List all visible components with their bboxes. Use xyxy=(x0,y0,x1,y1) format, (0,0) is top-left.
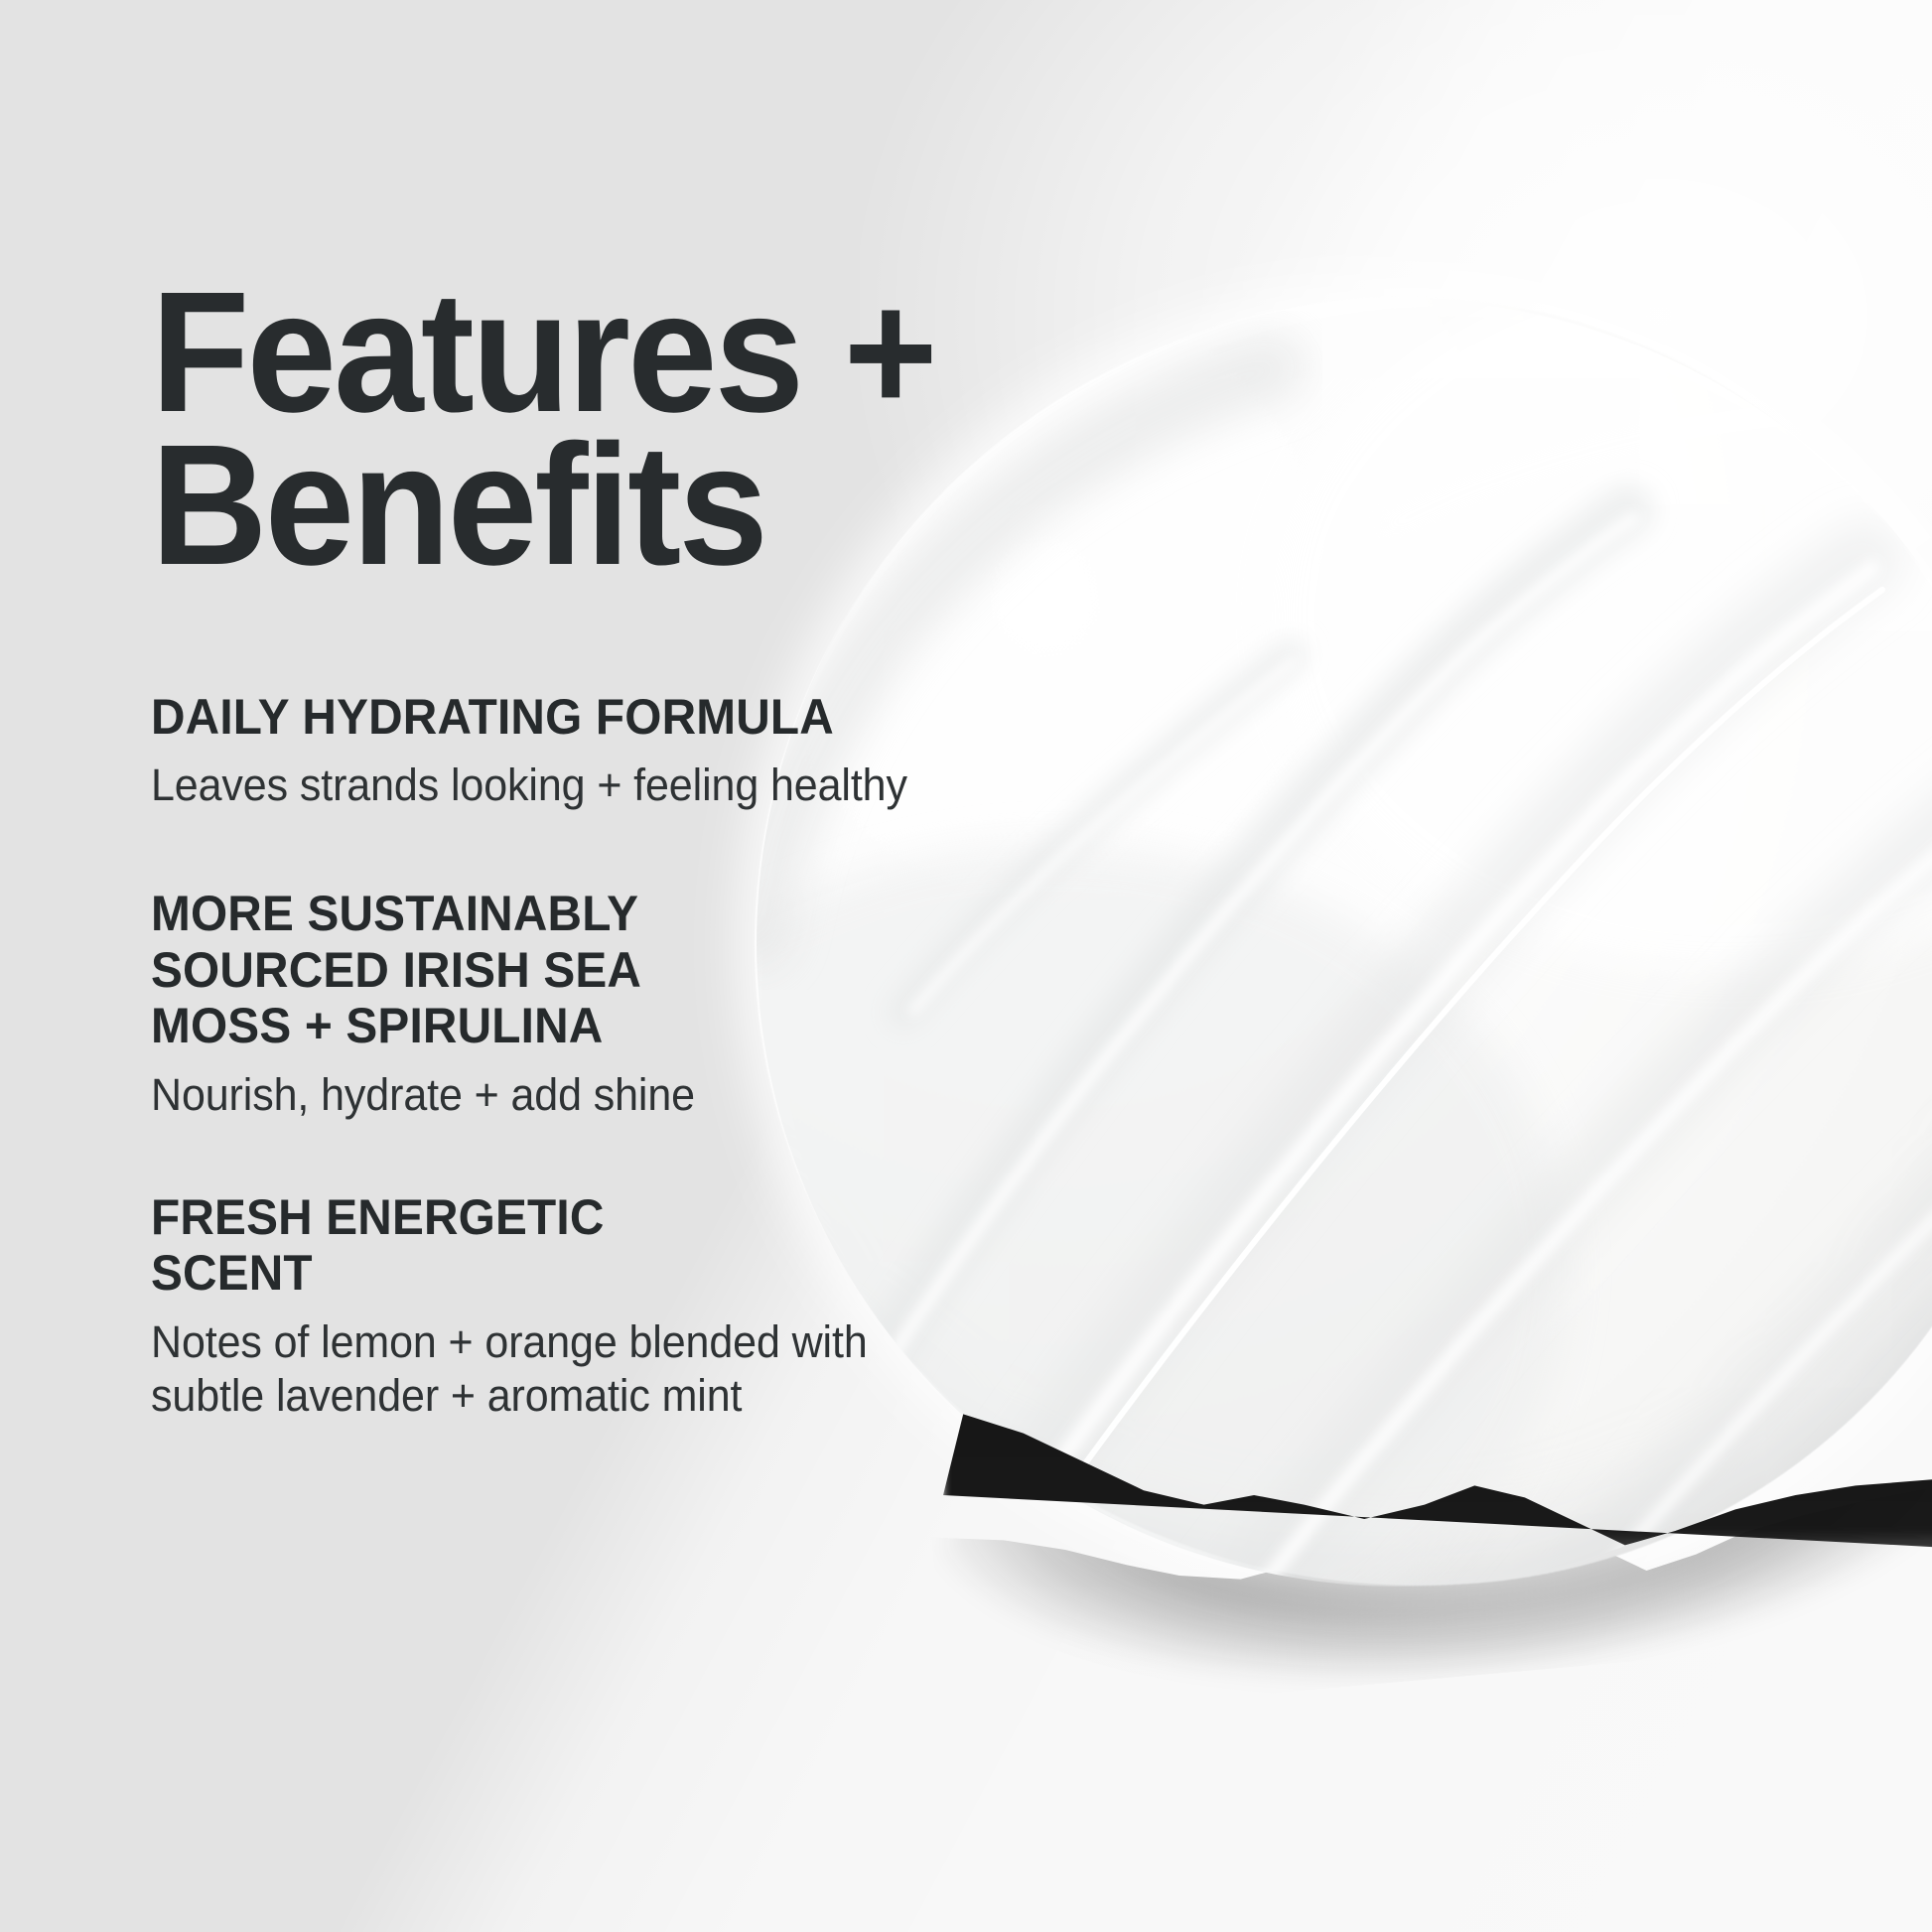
feature-title: MORE SUSTAINABLY SOURCED IRISH SEA MOSS … xyxy=(151,886,1061,1054)
feature-item-fresh-energetic-scent: FRESH ENERGETIC SCENT Notes of lemon + o… xyxy=(151,1189,1104,1423)
feature-title: FRESH ENERGETIC SCENT xyxy=(151,1189,1061,1302)
feature-item-daily-hydrating-formula: DAILY HYDRATING FORMULA Leaves strands l… xyxy=(151,689,1104,813)
product-feature-card: Features + Benefits DAILY HYDRATING FORM… xyxy=(0,0,1932,1932)
feature-description: Notes of lemon + orange blended with sub… xyxy=(151,1315,1061,1423)
feature-item-irish-sea-moss-spirulina: MORE SUSTAINABLY SOURCED IRISH SEA MOSS … xyxy=(151,886,1104,1122)
feature-description: Nourish, hydrate + add shine xyxy=(151,1068,1061,1122)
feature-description: Leaves strands looking + feeling healthy xyxy=(151,759,1061,812)
page-title: Features + Benefits xyxy=(151,0,1046,582)
feature-list: DAILY HYDRATING FORMULA Leaves strands l… xyxy=(151,689,1104,1423)
content-column: Features + Benefits DAILY HYDRATING FORM… xyxy=(151,0,1104,1423)
feature-title: DAILY HYDRATING FORMULA xyxy=(151,689,1061,746)
